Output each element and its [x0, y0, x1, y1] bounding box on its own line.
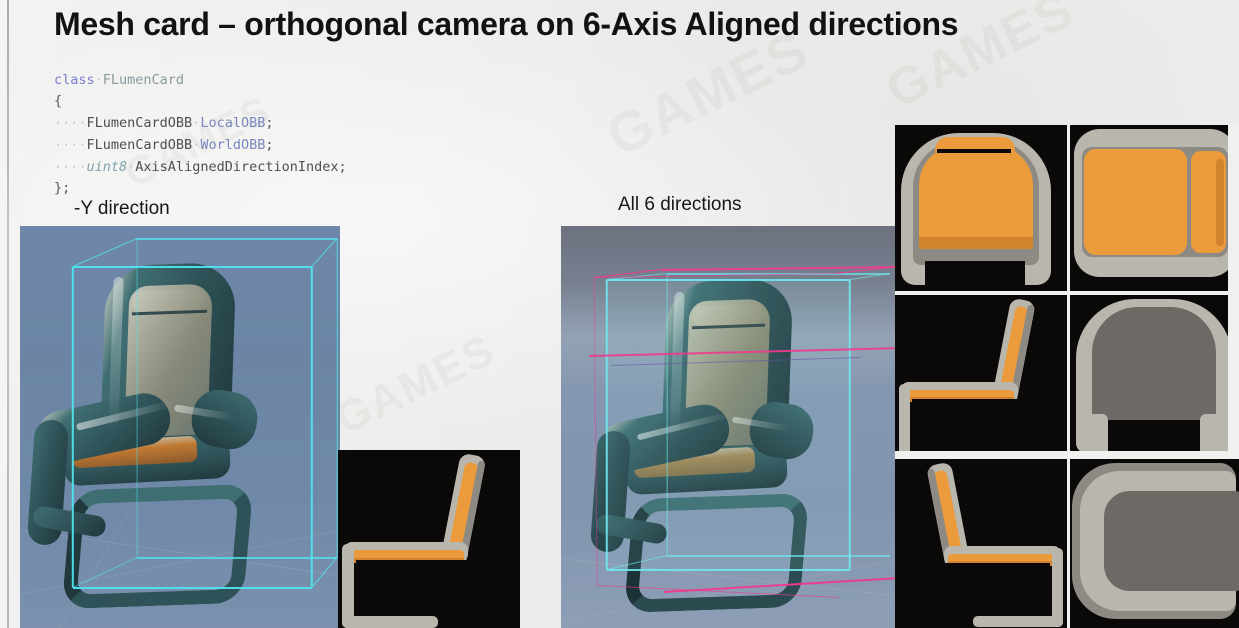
cyan-edge-near-right — [849, 280, 851, 570]
card-render-side — [338, 450, 520, 628]
code-line: ····uint8·AxisAlignedDirectionIndex; — [54, 159, 347, 175]
card-shape-underside — [1104, 491, 1239, 592]
cyan-edge-near-left — [606, 280, 608, 570]
magenta-edge-near-left — [593, 278, 597, 586]
viewport-right-label: All 6 directions — [618, 194, 742, 216]
code-token-builtin-italic: uint8 — [87, 159, 128, 175]
wire-edge-near-right — [311, 267, 313, 588]
card-shape-void — [356, 560, 476, 614]
code-token-punctuation: ; — [265, 137, 273, 153]
card-render-side — [895, 295, 1067, 455]
card-shape-headrest-seam — [937, 149, 1011, 153]
card-shape-sled — [973, 616, 1064, 627]
code-token-class-name: FLumenCard — [103, 72, 184, 88]
code-token-punctuation: { — [54, 93, 62, 109]
wire-edge-depth-tl — [73, 238, 138, 267]
viewport-left-label: -Y direction — [74, 198, 170, 220]
wire-edge-near-top — [73, 266, 312, 268]
wire-edge-near-left — [72, 267, 74, 588]
card-shape-void — [912, 399, 1025, 450]
card-shape-void — [1106, 420, 1203, 455]
viewport-all-6-directions[interactable] — [561, 226, 895, 628]
wireframe-cyan-volume — [606, 279, 849, 569]
card-shape-front-leg — [899, 384, 910, 455]
card-shape-void — [937, 563, 1050, 614]
mesh-card-thumbnail-minus-y[interactable] — [338, 450, 520, 628]
slide-canvas: GAMES GAMES GAMES GAMES Mesh card – orth… — [0, 0, 1239, 628]
mesh-card-grid — [895, 125, 1239, 628]
card-side-view-2[interactable] — [895, 459, 1067, 628]
card-grid-separator-row-1 — [895, 291, 1239, 295]
code-token-indent-dots: ···· — [54, 115, 87, 131]
card-shape-base-rail — [915, 249, 1037, 261]
viewport-minus-y-direction[interactable] — [20, 226, 340, 628]
card-render-side — [895, 459, 1067, 628]
wireframe-box-cyan — [20, 226, 340, 628]
code-token-member: AxisAlignedDirectionIndex — [135, 159, 338, 175]
code-token-keyword: class — [54, 72, 95, 88]
slide-left-margin — [0, 0, 7, 628]
card-bottom-view[interactable] — [1070, 459, 1239, 628]
watermark-text-3: GAMES — [328, 325, 504, 445]
wire-edge-depth-br — [311, 558, 337, 589]
card-shape-leg-right — [1200, 414, 1220, 455]
slide-left-border-line — [7, 0, 9, 628]
wire-edge-near-bottom — [73, 587, 312, 589]
card-top-view[interactable] — [1070, 125, 1239, 291]
code-token-type: FLumenCardOBB — [87, 115, 193, 131]
wire-edge-far-top — [137, 238, 337, 239]
card-grid-separator-row-2 — [895, 451, 1239, 459]
code-token-member: WorldOBB — [200, 137, 265, 153]
card-grid-separator-vertical — [1067, 125, 1070, 628]
card-shape-backrest-edge — [1216, 159, 1224, 246]
card-shape-cushion-shade — [919, 237, 1033, 249]
code-token-punctuation: }; — [54, 180, 70, 196]
card-front-view[interactable] — [895, 125, 1067, 291]
slide-title: Mesh card – orthogonal camera on 6-Axis … — [54, 6, 958, 43]
cyan-edge-far-bottom — [667, 555, 890, 556]
code-token-indent-dots: ···· — [54, 159, 87, 175]
code-token-punctuation: ; — [339, 159, 347, 175]
code-token-indent-dots: ···· — [54, 137, 87, 153]
cyan-edge-near-top — [607, 279, 850, 281]
code-token-member: LocalOBB — [200, 115, 265, 131]
card-shape-leg-left — [1088, 414, 1108, 455]
card-grid-right-margin — [1228, 125, 1239, 455]
code-line: }; — [54, 180, 70, 196]
code-token-space-dot: · — [95, 72, 103, 88]
code-token-type: FLumenCardOBB — [87, 137, 193, 153]
code-block: class·FLumenCard { ····FLumenCardOBB·Loc… — [54, 70, 347, 201]
card-shape-void — [925, 261, 1025, 291]
wireframe-box-group — [561, 226, 895, 628]
code-line: ····FLumenCardOBB·WorldOBB; — [54, 137, 274, 153]
wire-edge-depth-bl — [73, 557, 137, 588]
card-shape-sled — [342, 616, 438, 628]
code-line: class·FLumenCard — [54, 72, 184, 88]
card-side-view[interactable] — [895, 295, 1067, 455]
code-line: ····FLumenCardOBB·LocalOBB; — [54, 115, 274, 131]
card-shape-back-panel — [1092, 307, 1217, 420]
wire-edge-depth-tr — [311, 239, 337, 268]
code-token-punctuation: ; — [265, 115, 273, 131]
cyan-edge-far-left — [666, 274, 667, 556]
code-line: { — [54, 93, 62, 109]
wire-edge-far-left — [136, 239, 137, 558]
wire-edge-far-bottom — [137, 557, 337, 558]
card-shape-seat — [1084, 149, 1187, 256]
card-back-view[interactable] — [1070, 295, 1239, 455]
cyan-edge-near-bottom — [607, 569, 850, 571]
